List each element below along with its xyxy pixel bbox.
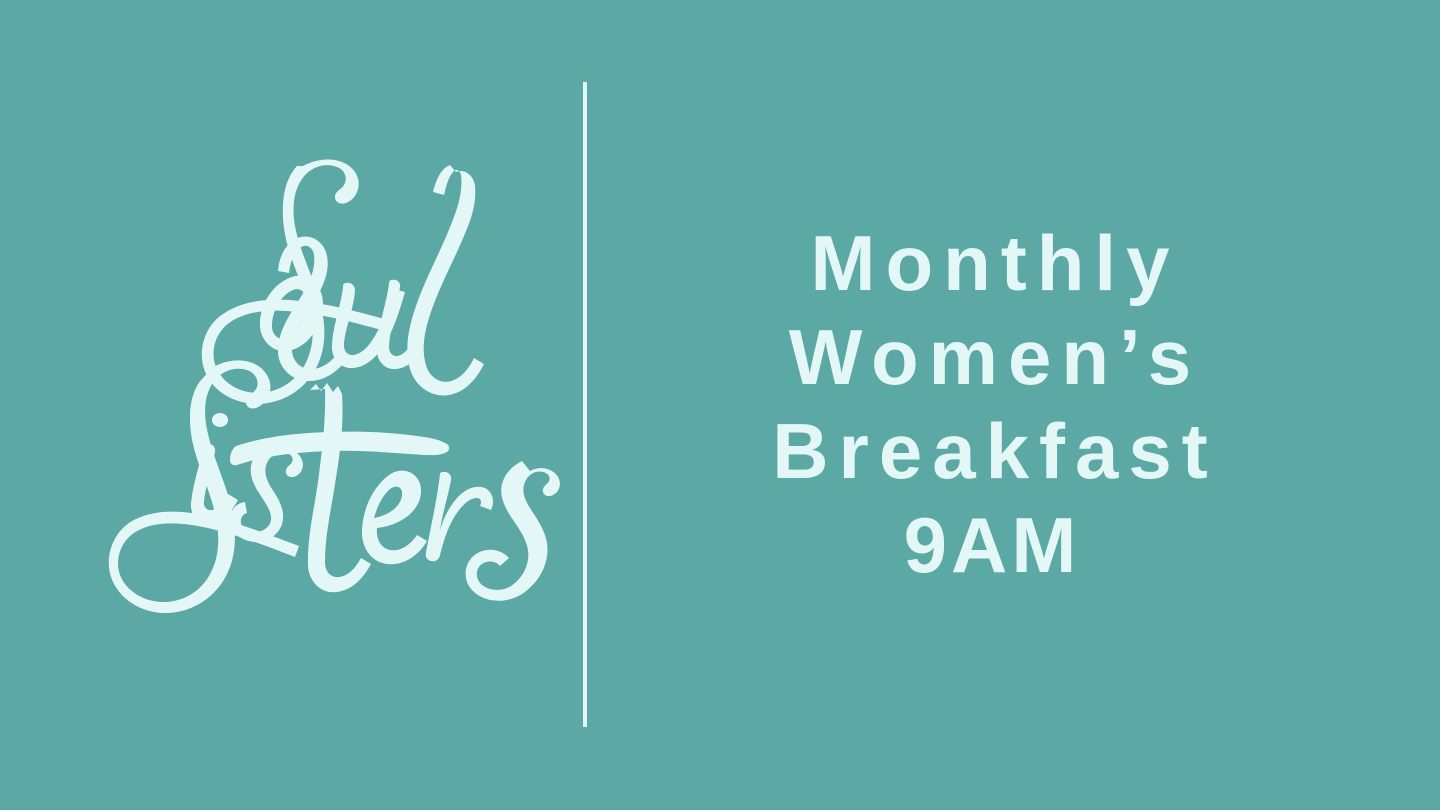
headline-line-1: Monthly (640, 216, 1340, 310)
headline-line-3: Breakfast (640, 404, 1340, 498)
announcement-slide: Soul Sisters (0, 0, 1440, 810)
headline-line-4: 9AM (640, 498, 1340, 592)
headline-line-2: Women’s (640, 310, 1340, 404)
script-word-sisters (109, 360, 560, 613)
vertical-divider (583, 82, 587, 727)
headline-block: Monthly Women’s Breakfast 9AM (640, 216, 1340, 592)
soul-sisters-script-svg (60, 120, 560, 600)
soul-sisters-logo: Soul Sisters (60, 120, 560, 600)
